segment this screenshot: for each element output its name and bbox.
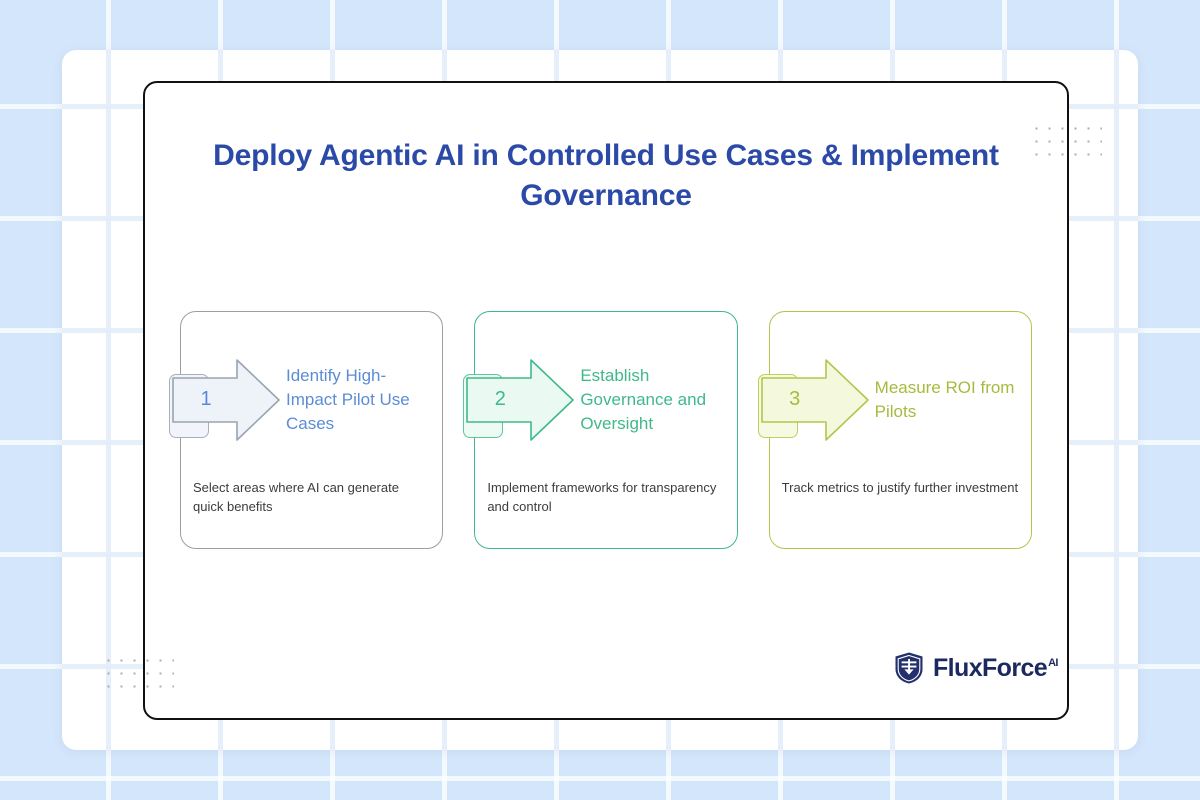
logo-superscript: AI [1048,657,1058,669]
step-number-1: 1 [189,384,223,414]
brand-logo: FluxForceAI [893,650,1058,686]
page-title: Deploy Agentic AI in Controlled Use Case… [143,136,1069,216]
step-body-1: Select areas where AI can generate quick… [193,478,430,516]
step-number-2: 2 [483,384,517,414]
step-number-3: 3 [778,384,812,414]
step-heading-1: Identify High-Impact Pilot Use Cases [286,356,426,444]
arrow-shape-1: 1 [171,356,281,444]
step-heading-3: Measure ROI from Pilots [875,356,1015,444]
step-card-2[interactable]: 2 Establish Governance and Oversight Imp… [474,311,737,549]
step-card-1[interactable]: 1 Identify High-Impact Pilot Use Cases S… [180,311,443,549]
shield-icon [893,651,925,685]
logo-name: FluxForce [933,654,1047,682]
logo-wordmark: FluxForceAI [933,654,1058,683]
step-body-3: Track metrics to justify further investm… [782,478,1019,497]
step-heading-2: Establish Governance and Oversight [580,356,720,444]
steps-container: 1 Identify High-Impact Pilot Use Cases S… [180,311,1032,549]
step-card-3[interactable]: 3 Measure ROI from Pilots Track metrics … [769,311,1032,549]
arrow-shape-2: 2 [465,356,575,444]
arrow-shape-3: 3 [760,356,870,444]
step-body-2: Implement frameworks for transparency an… [487,478,724,516]
